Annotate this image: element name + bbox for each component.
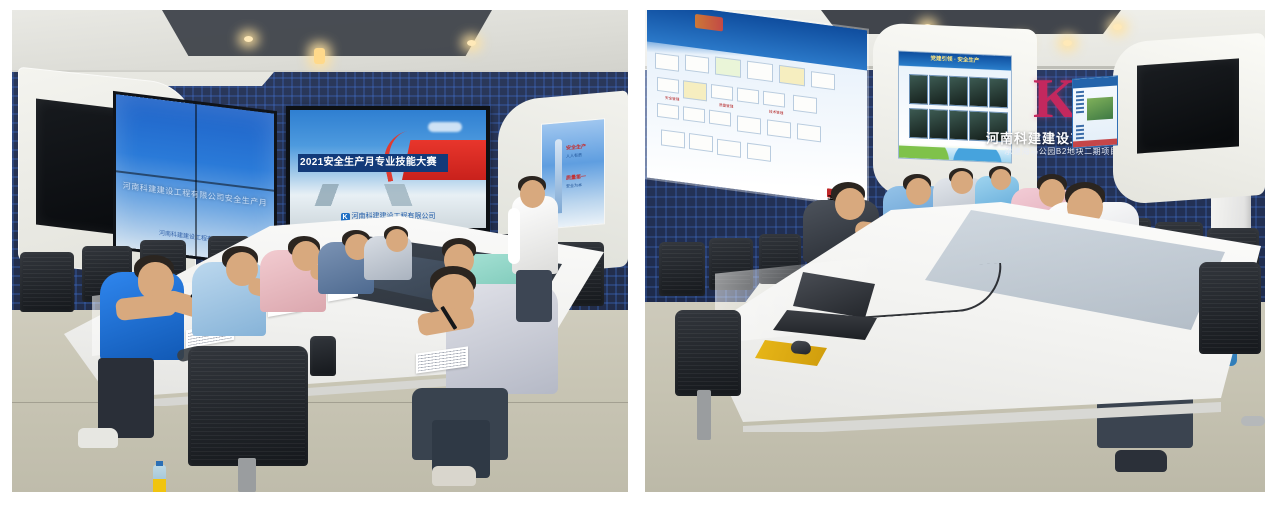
- board-cell: [779, 65, 805, 86]
- cloud-graphic: [428, 122, 462, 132]
- safety-poster: [1073, 76, 1117, 147]
- company-logo-icon: K: [1033, 72, 1077, 126]
- board-cell: [797, 123, 821, 142]
- organization-chart-board[interactable]: 安全管理 质量管理 技术管理 科建建设: [647, 10, 867, 206]
- office-chair[interactable]: [20, 252, 74, 312]
- board-cell: [811, 71, 835, 90]
- board-cell: [683, 106, 705, 123]
- wall-monitor-right[interactable]: [1137, 58, 1239, 153]
- board-cell: [717, 139, 741, 158]
- office-chair[interactable]: [659, 242, 705, 296]
- board-cell: [747, 143, 771, 162]
- downlight-icon: [244, 36, 253, 42]
- downlight-icon: [314, 48, 325, 64]
- board-caption: 技术管理: [769, 110, 783, 117]
- water-bottle: [153, 465, 166, 492]
- board-cell: [657, 77, 679, 94]
- board-cell: [763, 91, 785, 108]
- office-chair[interactable]: [188, 346, 308, 466]
- board-thumbnail: [949, 76, 968, 107]
- board-cell: [683, 80, 707, 101]
- poster-image: [1087, 97, 1113, 121]
- board-caption: 安全管理: [665, 96, 679, 103]
- office-chair[interactable]: [310, 336, 336, 376]
- board-cell: [661, 129, 685, 148]
- poster-line-4: 安全为本: [566, 182, 582, 189]
- photo-right-conference-room[interactable]: 安全管理 质量管理 技术管理 科建建设 党建引领 · 安全生产 K 河南科建建设…: [645, 10, 1265, 492]
- board-cell: [737, 87, 759, 104]
- board-cell: [655, 53, 679, 72]
- board-cell: [715, 56, 741, 77]
- ceiling-soffit: [162, 10, 492, 56]
- board-thumbnail: [929, 75, 948, 106]
- photo-gallery: 河南科建建设工程有限公司安全生产月 河南科建建设工程有限公司 2021安全生产月…: [0, 0, 1276, 509]
- board-cell: [685, 55, 709, 74]
- board-cell: [709, 110, 731, 127]
- board-cell: [767, 119, 791, 138]
- board-thumbnail: [909, 74, 928, 105]
- mountain-graphic: [290, 184, 486, 206]
- poster-header: [1073, 76, 1117, 88]
- slide-title: 2021安全生产月专业技能大赛: [300, 156, 452, 170]
- board-cell: [711, 84, 733, 101]
- poster-line-2: 人人有责: [566, 152, 582, 159]
- poster-line-3: 质量第一: [566, 173, 586, 182]
- board-cell: [747, 61, 773, 82]
- board-thumbnail: [969, 77, 988, 108]
- chair-leg: [1241, 416, 1265, 426]
- computer-mouse[interactable]: [790, 340, 811, 355]
- board-cell: [737, 115, 761, 134]
- board-cell: [657, 103, 679, 120]
- downlight-icon: [1113, 24, 1122, 30]
- office-chair[interactable]: [675, 310, 741, 396]
- downlight-icon: [1063, 40, 1072, 46]
- office-chair[interactable]: [709, 238, 753, 290]
- office-chair[interactable]: [1199, 262, 1261, 354]
- projection-screen[interactable]: 2021安全生产月专业技能大赛 K河南科建建设工程有限公司: [290, 110, 486, 228]
- poster-line-1: 安全生产: [566, 143, 586, 152]
- board-thumbnail: [989, 77, 1008, 108]
- downlight-icon: [467, 40, 476, 46]
- board-caption: 质量管理: [719, 103, 733, 110]
- board-cell: [689, 133, 713, 152]
- photo-left-conference-room[interactable]: 河南科建建设工程有限公司安全生产月 河南科建建设工程有限公司 2021安全生产月…: [12, 10, 628, 492]
- board-thumbnail: [909, 108, 928, 139]
- board-cell: [793, 95, 817, 114]
